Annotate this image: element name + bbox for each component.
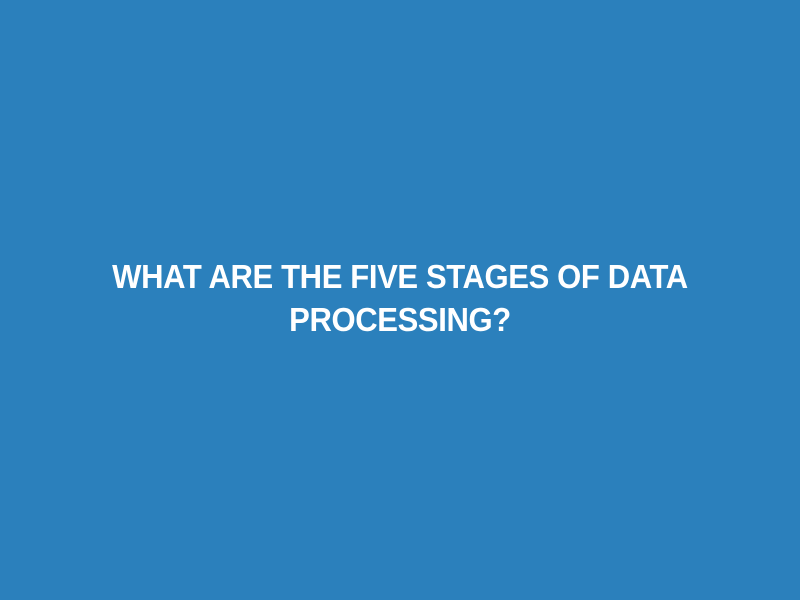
page-title-line-2: PROCESSING? — [80, 298, 719, 341]
title-block: WHAT ARE THE FIVE STAGES OF DATA PROCESS… — [0, 255, 800, 341]
page-title: WHAT ARE THE FIVE STAGES OF DATA PROCESS… — [80, 255, 719, 341]
banner-canvas: WHAT ARE THE FIVE STAGES OF DATA PROCESS… — [0, 0, 800, 600]
page-title-line-1: WHAT ARE THE FIVE STAGES OF DATA — [80, 255, 719, 298]
